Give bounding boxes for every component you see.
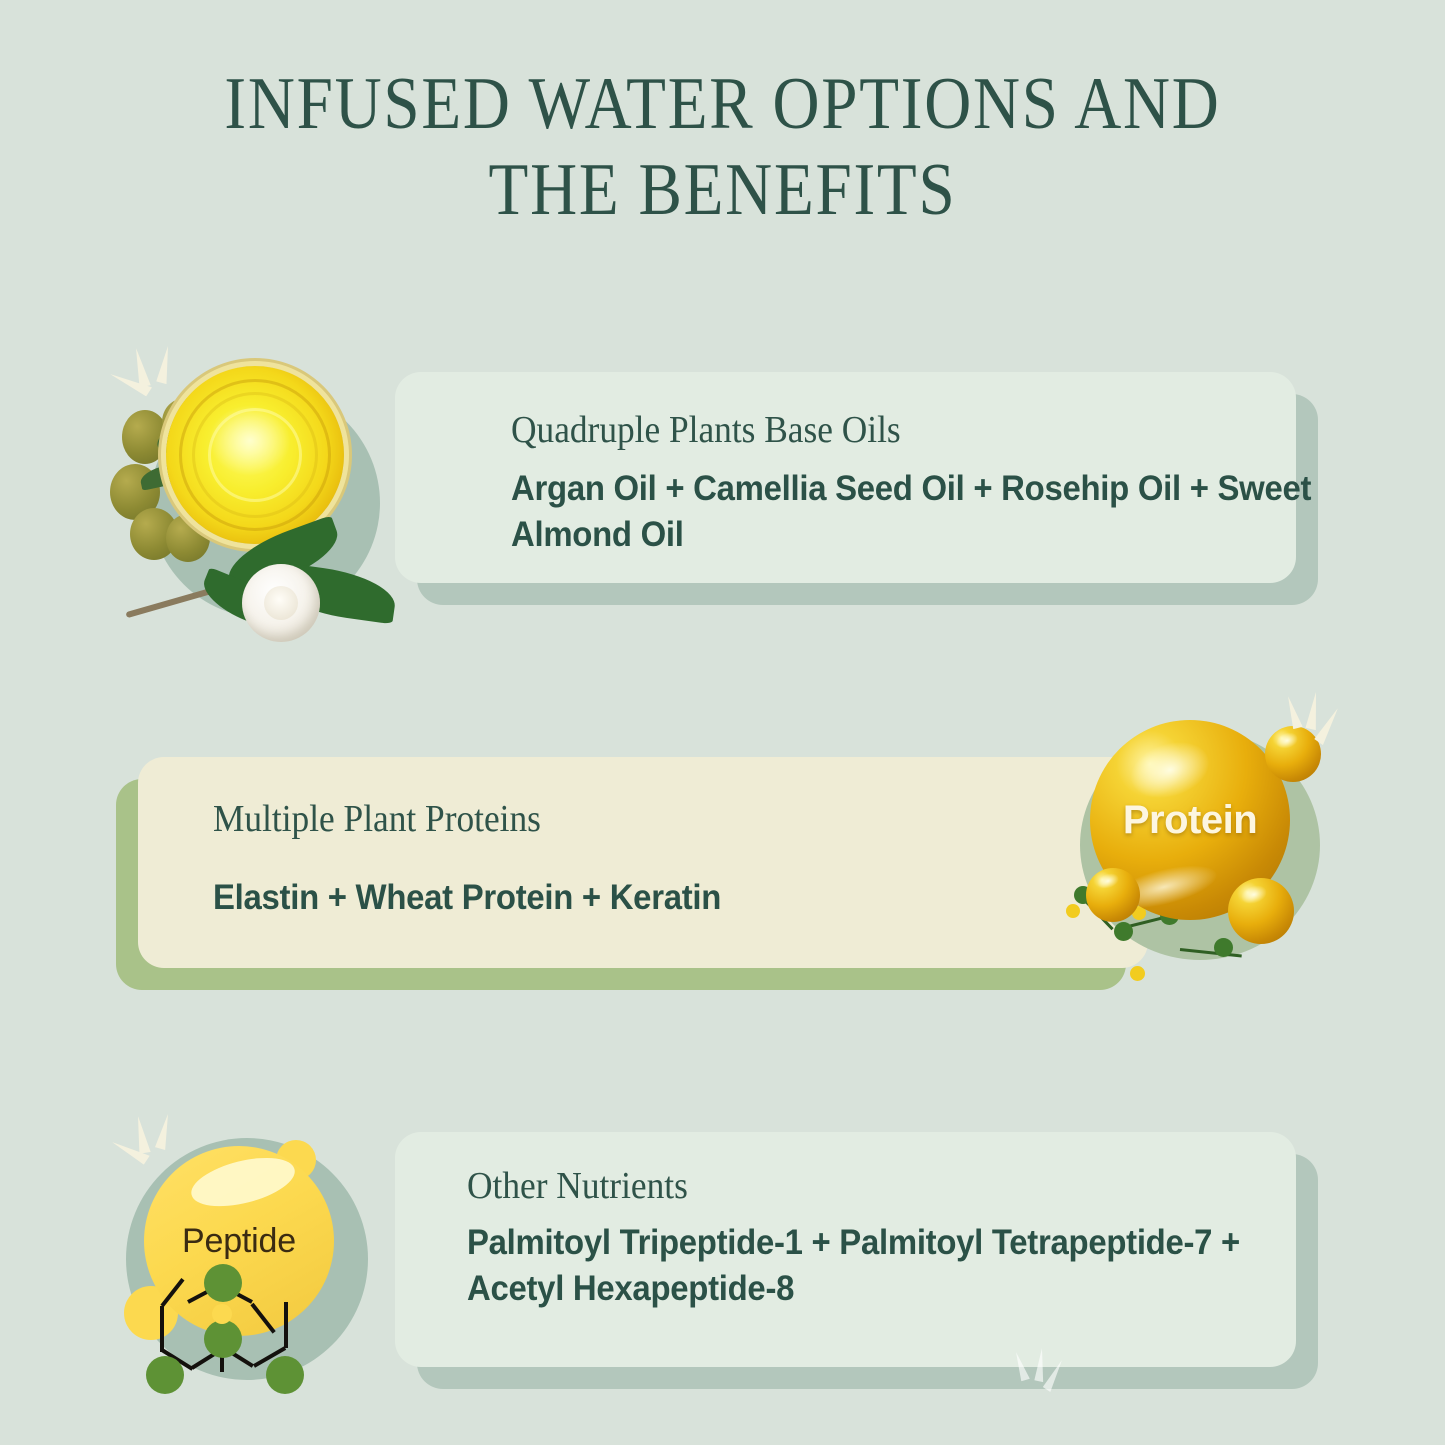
- molecule-node-yellow: [1066, 904, 1080, 918]
- molecule-node-yellow: [1130, 966, 1145, 981]
- molecule-node: [204, 1264, 242, 1302]
- card-heading: Other Nutrients: [467, 1164, 688, 1208]
- sparkle-icon: [106, 340, 186, 400]
- molecule-node: [1114, 922, 1133, 941]
- flower-core: [264, 586, 298, 620]
- card-quadruple-plants-base-oils: Quadruple Plants Base Oils Argan Oil + C…: [395, 372, 1296, 583]
- sparkle-icon: [108, 1108, 188, 1168]
- molecule-node: [266, 1356, 304, 1394]
- molecule-node: [204, 1320, 242, 1358]
- card-content: Other Nutrients Palmitoyl Tripeptide-1 +…: [395, 1132, 1296, 1367]
- molecule-node-yellow: [212, 1304, 232, 1324]
- card-multiple-plant-proteins: Multiple Plant Proteins Elastin + Wheat …: [138, 757, 1148, 968]
- protein-label: Protein: [1090, 720, 1290, 920]
- card-body: Elastin + Wheat Protein + Keratin: [213, 875, 1059, 921]
- card-heading: Quadruple Plants Base Oils: [511, 408, 901, 452]
- peptide-sphere-illustration: Peptide: [104, 1108, 434, 1408]
- protein-droplet-illustration: Protein: [1060, 700, 1360, 990]
- sparkle-icon: [1012, 1344, 1082, 1400]
- sparkle-icon: [1282, 686, 1362, 746]
- page-title: INFUSED WATER OPTIONS AND THE BENEFITS: [87, 62, 1359, 234]
- poster-root: INFUSED WATER OPTIONS AND THE BENEFITS Q…: [0, 0, 1445, 1445]
- card-content: Quadruple Plants Base Oils Argan Oil + C…: [395, 372, 1296, 583]
- camellia-flower-icon: [242, 564, 320, 642]
- card-other-nutrients: Other Nutrients Palmitoyl Tripeptide-1 +…: [395, 1132, 1296, 1367]
- oil-bowl-icon: [166, 366, 344, 544]
- molecule-node: [1214, 938, 1233, 957]
- molecule-node: [146, 1356, 184, 1394]
- olive-oil-bowl-illustration: [104, 338, 440, 638]
- card-content: Multiple Plant Proteins Elastin + Wheat …: [138, 757, 1148, 968]
- card-body: Argan Oil + Camellia Seed Oil + Rosehip …: [511, 466, 1338, 558]
- card-heading: Multiple Plant Proteins: [213, 797, 541, 841]
- bowl-highlight: [209, 405, 291, 476]
- card-body: Palmitoyl Tripeptide-1 + Palmitoyl Tetra…: [467, 1220, 1247, 1312]
- peptide-label: Peptide: [144, 1146, 334, 1336]
